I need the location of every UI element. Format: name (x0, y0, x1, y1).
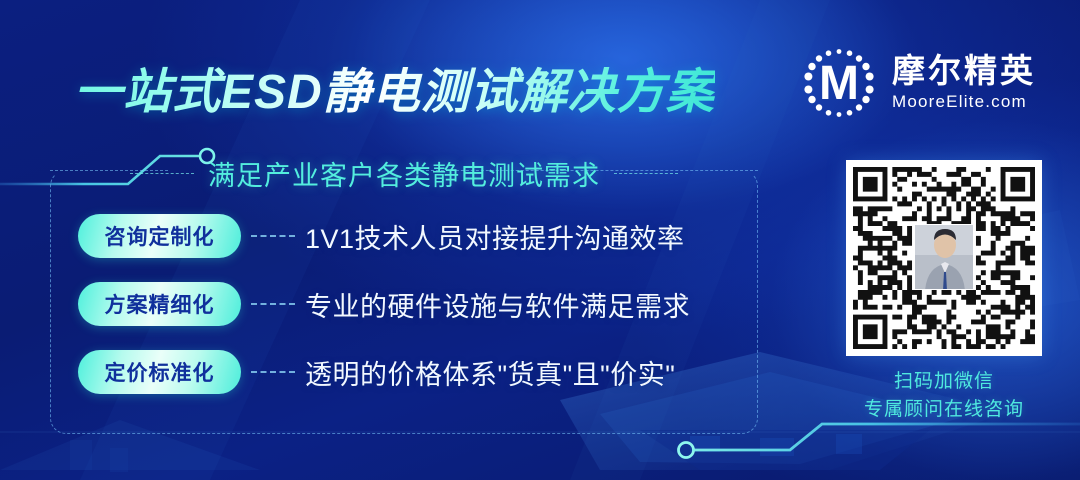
qr-code-canvas (853, 167, 1035, 349)
esd-promo-banner: 一站式ESD静电测试解决方案 满足产业客户各类静电测试需求 咨询定制化 1V1技… (0, 0, 1080, 480)
subtitle-dash-left (130, 173, 194, 174)
page-subtitle: 满足产业客户各类静电测试需求 (208, 154, 600, 193)
feature-tag-label: 定价标准化 (105, 357, 215, 387)
feature-connector (251, 303, 295, 305)
feature-row: 方案精细化 专业的硬件设施与软件满足需求 (78, 281, 758, 327)
feature-row: 咨询定制化 1V1技术人员对接提升沟通效率 (78, 213, 758, 259)
feature-description: 1V1技术人员对接提升沟通效率 (305, 217, 685, 256)
feature-description: 专业的硬件设施与软件满足需求 (305, 285, 690, 324)
feature-tag-label: 咨询定制化 (105, 221, 215, 251)
moore-elite-dotted-ring-m-icon: M (800, 44, 878, 122)
feature-row: 定价标准化 透明的价格体系"货真"且"价实" (78, 349, 758, 395)
subtitle-dash-right (614, 173, 678, 174)
qr-caption: 扫码加微信 专属顾问在线咨询 (826, 368, 1062, 423)
feature-connector (251, 371, 295, 373)
qr-code-icon[interactable] (846, 160, 1042, 356)
qr-caption-line-1: 扫码加微信 (826, 368, 1062, 396)
feature-connector (251, 235, 295, 237)
person-avatar-icon (914, 224, 974, 290)
feature-list: 咨询定制化 1V1技术人员对接提升沟通效率 方案精细化 专业的硬件设施与软件满足… (78, 213, 758, 417)
feature-description: 透明的价格体系"货真"且"价实" (305, 353, 675, 392)
brand-name-en: MooreElite.com (892, 92, 1036, 112)
qr-caption-line-2: 专属顾问在线咨询 (826, 396, 1062, 424)
brand-logo-text: 摩尔精英 MooreElite.com (892, 54, 1036, 113)
page-title: 一站式ESD静电测试解决方案 (74, 52, 715, 122)
brand-name-cn: 摩尔精英 (892, 54, 1036, 89)
feature-tag-badge: 定价标准化 (78, 350, 241, 394)
feature-tag-label: 方案精细化 (105, 289, 215, 319)
subtitle-row: 满足产业客户各类静电测试需求 (50, 152, 758, 194)
svg-text:M: M (819, 57, 859, 110)
brand-logo: M 摩尔精英 MooreElite.com (800, 44, 1036, 122)
feature-tag-badge: 方案精细化 (78, 282, 241, 326)
feature-tag-badge: 咨询定制化 (78, 214, 241, 258)
